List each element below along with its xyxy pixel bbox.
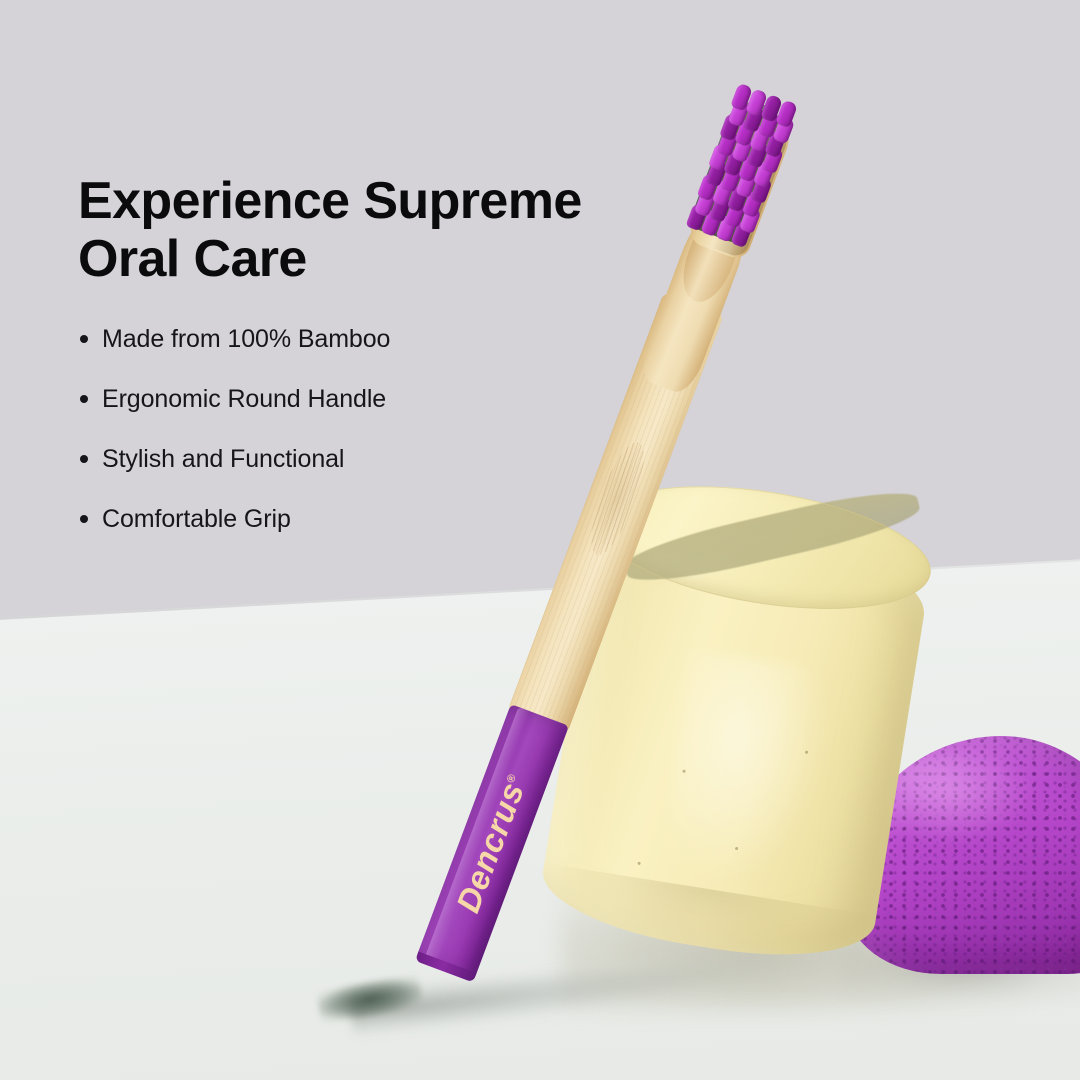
brand-name: Dencrus® [430,718,555,969]
feature-label: Comfortable Grip [102,505,291,533]
bullet-dot-icon [80,335,88,343]
bullet-dot-icon [80,515,88,523]
brand-lockup: Dencrus® [416,704,569,980]
brand-name-text: Dencrus [449,777,531,917]
product-hero-image: Experience Supreme Oral Care Made from 1… [0,0,1080,1080]
toothbrush-bristles [678,79,805,255]
bullet-dot-icon [80,395,88,403]
bullet-dot-icon [80,455,88,463]
bamboo-toothbrush: Dencrus® [300,48,860,1038]
